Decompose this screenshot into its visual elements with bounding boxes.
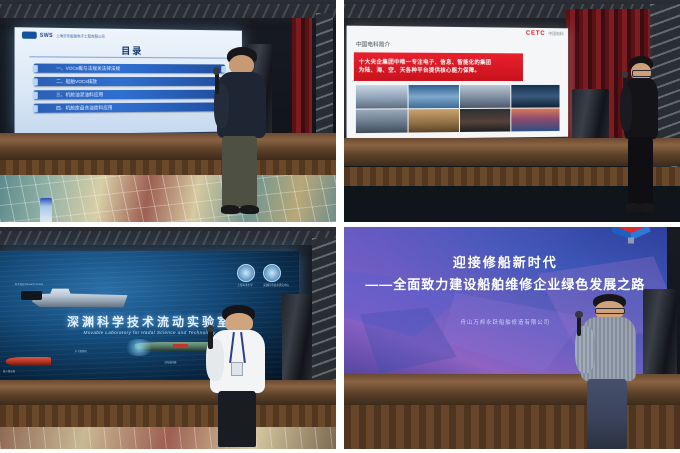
rov-graphic bbox=[21, 291, 42, 300]
slide4-title-line-2: ——全面致力建设船舶维修企业绿色发展之路 bbox=[344, 274, 667, 293]
slide1-toc-label: 一、VOCs概与法规关法律法规 bbox=[56, 65, 120, 71]
slide2-image-cell bbox=[409, 108, 460, 132]
cetc-logo-text: CETC bbox=[526, 31, 546, 37]
photo-panel-2: CETC 中国电科 中国电科简介 十大央企集团中唯一专注电子、信息、智能化的集团… bbox=[344, 0, 680, 222]
photo-panel-4: 迎接修船新时代 ——全面致力建设船舶维修企业绿色发展之路 舟山万邦永跃船舶修造有… bbox=[344, 227, 680, 449]
slide2-image-cell bbox=[511, 84, 559, 107]
speaker-cabinet-4 bbox=[643, 289, 677, 382]
university-logo-icon bbox=[237, 264, 255, 282]
bar-knob-left-icon bbox=[33, 78, 38, 85]
slide1-toc-item: 四、机舱废盘含油废料应用 bbox=[34, 103, 225, 114]
bar-knob-left-icon bbox=[33, 105, 38, 112]
legs bbox=[222, 136, 257, 207]
slide3-element-label: 深海着陆器 bbox=[164, 360, 176, 364]
microphone bbox=[577, 315, 581, 335]
microphone-head-icon bbox=[575, 311, 582, 319]
company-logo-icon bbox=[608, 227, 654, 245]
slide2-image-cell bbox=[511, 108, 559, 131]
legs bbox=[218, 391, 256, 446]
slide2-banner-line: 十大央企集团中唯一专注电子、信息、智能化的集团 bbox=[359, 58, 519, 67]
slide1-toc-label: 三、机舱油泥油料应用 bbox=[56, 92, 103, 98]
slide2-logo-bar: CETC 中国电科 bbox=[526, 31, 564, 37]
slide1-header: SWS 上海华东船舶电子工程有限公司 bbox=[22, 31, 105, 39]
side-truss-3 bbox=[312, 238, 336, 389]
slide2-image-cell bbox=[460, 108, 510, 132]
slide2-section-title: 中国电科简介 bbox=[356, 40, 390, 48]
slide2-image-cell bbox=[356, 84, 408, 108]
slide3-logo-label: 深渊科学技术研究中心 bbox=[263, 283, 289, 287]
slide3-element-label: 科考母船 Research Vessel bbox=[15, 282, 43, 286]
carpet-3 bbox=[0, 427, 336, 449]
microphone bbox=[208, 329, 212, 349]
side-truss-1 bbox=[316, 13, 333, 151]
slide2-image-cell bbox=[356, 109, 408, 133]
slide1-toc-label: 四、机舱废盘含油废料应用 bbox=[56, 105, 112, 112]
stage-front-3 bbox=[0, 405, 336, 427]
photo-grid: SWS 上海华东船舶电子工程有限公司 目录 一、VOCs概与法规关法律法规 二、… bbox=[0, 0, 680, 453]
slide3-element-label: 载人潜水器 bbox=[3, 369, 15, 373]
slide1-toc-item: 三、机舱油泥油料应用 bbox=[34, 90, 225, 100]
microphone bbox=[215, 72, 219, 94]
stage-floor-1 bbox=[0, 133, 336, 160]
microphone-head-icon bbox=[207, 325, 214, 332]
shoe bbox=[640, 203, 655, 213]
shoe bbox=[221, 205, 240, 213]
sws-logo-text: SWS bbox=[40, 32, 53, 38]
speaker-person-3 bbox=[202, 305, 276, 447]
slide1-toc-list: 一、VOCs概与法规关法律法规 二、船舶VOCs排放 三、机舱油泥油料应用 四、… bbox=[34, 64, 225, 117]
slide3-logo-group: 上海海洋大学 深渊科学技术研究中心 bbox=[237, 264, 281, 282]
speaker-person-2 bbox=[616, 56, 666, 216]
slide2-banner-line: 为陆、海、空、天各种平台提供核心能力保障。 bbox=[359, 66, 519, 75]
slide2-image-cell bbox=[460, 84, 510, 107]
shoe bbox=[626, 203, 641, 213]
photo-panel-1: SWS 上海华东船舶电子工程有限公司 目录 一、VOCs概与法规关法律法规 二、… bbox=[0, 0, 336, 222]
stage-floor-3 bbox=[0, 380, 336, 404]
slide3-element-label: 水下滑翔机 bbox=[75, 349, 87, 353]
sws-company-name: 上海华东船舶电子工程有限公司 bbox=[57, 33, 106, 39]
slide2-image-row-2 bbox=[356, 108, 560, 133]
slide3-logo-label: 上海海洋大学 bbox=[237, 283, 253, 287]
name-badge bbox=[231, 362, 243, 377]
speaker-person-1 bbox=[205, 47, 279, 216]
photo-panel-3: 上海海洋大学 深渊科学技术研究中心 科考母船 Research Vessel 深… bbox=[0, 227, 336, 449]
slide2-image-row-1 bbox=[356, 84, 560, 108]
bar-knob-left-icon bbox=[33, 92, 38, 99]
microphone-head-icon bbox=[622, 71, 628, 77]
ceiling-truss-3 bbox=[0, 231, 336, 244]
water-bottle bbox=[40, 198, 51, 222]
glasses-icon bbox=[595, 308, 625, 315]
microphone-head-icon bbox=[213, 67, 220, 75]
underwater-light-glow bbox=[123, 339, 156, 356]
shoe bbox=[240, 205, 259, 213]
lander-marker bbox=[173, 344, 188, 348]
speaker-cabinet-3 bbox=[282, 294, 312, 387]
slide2-image-cell bbox=[409, 84, 460, 108]
ceiling-truss-1 bbox=[0, 4, 336, 17]
legs bbox=[587, 379, 627, 449]
manned-submersible-graphic bbox=[6, 357, 51, 366]
slide1-toc-label: 二、船舶VOCs排放 bbox=[56, 79, 97, 85]
led-screen-slide-2: CETC 中国电科 中国电科简介 十大央企集团中唯一专注电子、信息、智能化的集团… bbox=[347, 25, 568, 139]
research-center-logo-icon bbox=[263, 264, 281, 282]
cetc-logo-text-cn: 中国电科 bbox=[548, 31, 563, 37]
sws-logo-icon bbox=[22, 31, 37, 38]
speaker-person-4 bbox=[572, 294, 646, 449]
microphone bbox=[623, 76, 627, 94]
legs bbox=[628, 137, 653, 204]
slide4-title-line-1: 迎接修船新时代 bbox=[344, 252, 667, 271]
bar-knob-left-icon bbox=[33, 65, 38, 72]
slide1-toc-item: 二、船舶VOCs排放 bbox=[34, 77, 225, 86]
side-curtain-1 bbox=[292, 18, 312, 147]
slide1-toc-item: 一、VOCs概与法规关法律法规 bbox=[34, 64, 225, 74]
slide1-divider bbox=[30, 56, 230, 58]
glasses-icon bbox=[632, 70, 653, 77]
slide2-red-banner: 十大央企集团中唯一专注电子、信息、智能化的集团 为陆、海、空、天各种平台提供核心… bbox=[354, 51, 524, 81]
